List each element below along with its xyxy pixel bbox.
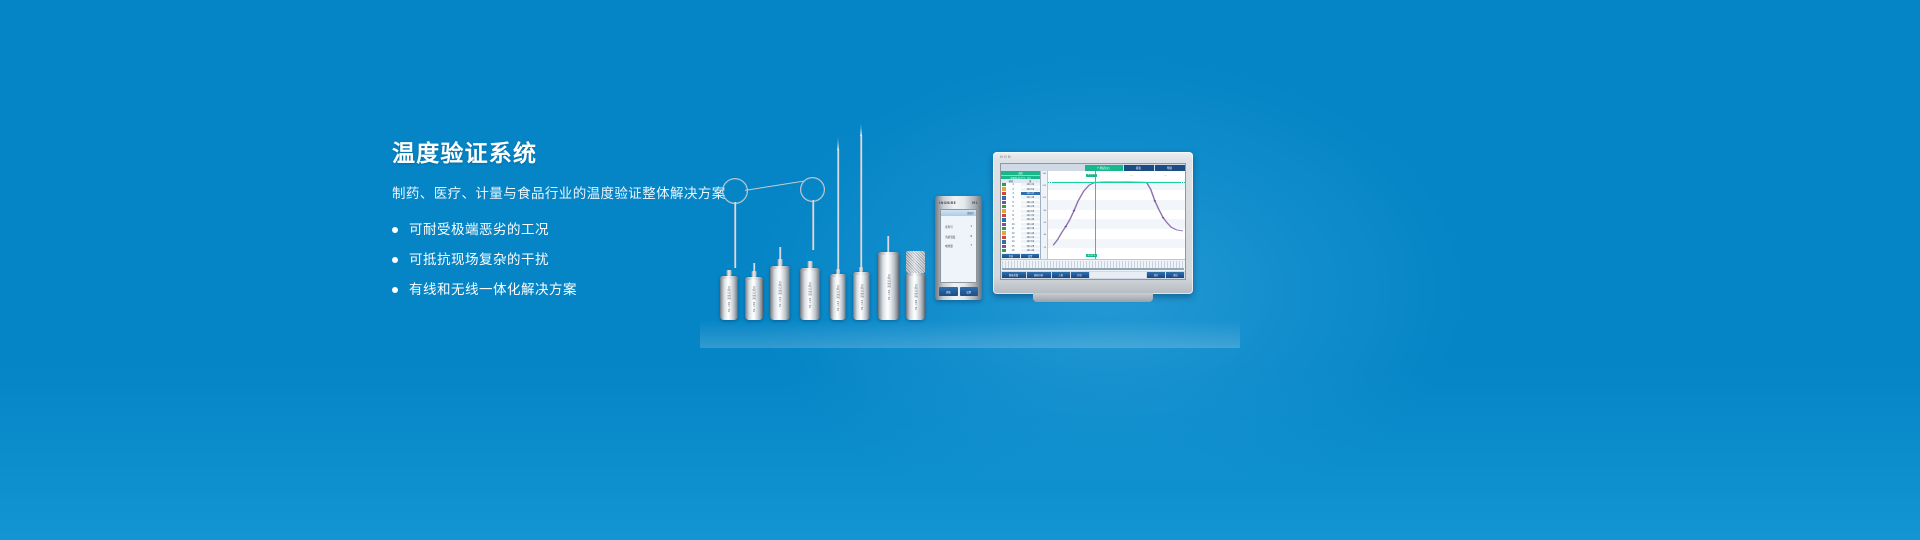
data-logger: TW-100 温度记录仪 — [745, 277, 763, 320]
toolbar-help-button[interactable]: 帮助 — [1155, 165, 1185, 171]
channel-table: 通道 测量值 统计(℃、秒) 通道 值 1121.34 2121.52 3121… — [1001, 171, 1041, 259]
cell-value: 121.28 — [1021, 245, 1040, 248]
y-tick: 100 — [1042, 197, 1046, 199]
cell-value: 121.46 — [1021, 249, 1040, 252]
probe-coil-icon — [800, 177, 825, 202]
toolbar-spacer — [1002, 165, 1084, 171]
collect-data-button[interactable]: 数据采集 — [1002, 272, 1026, 279]
toolbar-test-button[interactable]: F-测试(仪) — [1085, 165, 1123, 171]
app-toolbar-bottom: 数据采集 曲线分析 上报 打印 统计 退出 — [1001, 271, 1185, 279]
readout-value: 8 — [970, 235, 972, 239]
cell-channel: 7 — [1006, 210, 1021, 213]
logger-label: TW-180 温度记录仪 — [914, 284, 918, 310]
cell-value: 121.29 — [1021, 205, 1040, 208]
cell-value: 121.47 — [1021, 192, 1040, 195]
probe-stem — [779, 247, 781, 259]
cell-channel: 4 — [1006, 196, 1021, 199]
logger-neck — [778, 259, 783, 266]
background-floor-gradient — [0, 370, 1920, 540]
y-tick: 20 — [1044, 247, 1047, 249]
chart-y-axis: 140 120 100 80 60 40 20 — [1041, 171, 1048, 259]
logger-neck — [836, 269, 840, 274]
handheld-model: M1 — [972, 201, 978, 205]
cell-value: 121.49 — [1021, 218, 1040, 221]
cell-channel: 14 — [1006, 240, 1021, 243]
exit-button[interactable]: 退出 — [1166, 272, 1184, 279]
handheld-brand: INGNIRE — [939, 201, 956, 205]
toolbar-spacer — [1090, 272, 1147, 279]
logger-label: TW-140 温度记录仪 — [860, 284, 864, 310]
cell-channel: 1 — [1006, 183, 1021, 186]
cell-channel: 8 — [1006, 214, 1021, 217]
logger-label: TW-120 温度记录仪 — [778, 281, 782, 307]
data-logger: TW-180 温度记录仪 — [906, 273, 925, 320]
logger-neck — [859, 267, 863, 272]
handheld-keypad: 读取 设置 — [939, 287, 978, 296]
cell-value: 121.40 — [1021, 223, 1040, 226]
logger-label: TW-160 温度记录仪 — [887, 274, 891, 300]
cursor-label-bottom: B-121.4 — [1086, 254, 1096, 257]
statistics-button[interactable]: 统计 — [1147, 272, 1165, 279]
data-logger: TW-140 温度记录仪 — [853, 272, 870, 320]
table-body: 1121.34 2121.52 3121.47 4121.38 5121.41 … — [1001, 183, 1040, 253]
cell-value: 121.52 — [1021, 188, 1040, 191]
cursor-label-right-b — [1164, 175, 1167, 176]
logger-neck — [808, 261, 813, 268]
y-tick: 80 — [1044, 210, 1047, 212]
select-all-button[interactable]: 全选 — [1002, 254, 1020, 259]
cell-value: 121.31 — [1021, 236, 1040, 239]
data-logger: TW-160 温度记录仪 — [878, 252, 899, 320]
handheld-brand-row: INGNIRE M1 — [939, 201, 978, 205]
logger-label: TW-140 温度记录仪 — [836, 285, 840, 311]
y-tick: 60 — [1044, 222, 1047, 224]
cell-channel: 5 — [1006, 201, 1021, 204]
cell-channel: 2 — [1006, 188, 1021, 191]
feature-label: 可抵抗现场复杂的干扰 — [409, 251, 549, 269]
hero-banner: 温度验证系统 制药、医疗、计量与食品行业的温度验证整体解决方案 可耐受极端恶劣的… — [0, 0, 1920, 540]
logger-label: TW-100 温度记录仪 — [752, 286, 756, 312]
handheld-screen: 读取中 序列号 1 当前温度 8 电池量 7 — [940, 209, 977, 283]
probe-stem — [812, 200, 814, 250]
cell-channel: 9 — [1006, 218, 1021, 221]
readout-label: 电池量 — [945, 244, 953, 248]
data-logger: TW-120 温度记录仪 — [770, 266, 790, 320]
cell-value: 121.41 — [1021, 201, 1040, 204]
bullet-dot-icon — [392, 287, 398, 293]
software-screen: F-测试(仪) 报表 帮助 通道 测量值 统计(℃、秒) 通道 值 112 — [1000, 163, 1186, 280]
upload-button[interactable]: 上报 — [1052, 272, 1070, 279]
data-logger: TW-140 温度记录仪 — [830, 274, 846, 320]
cell-value: 121.44 — [1021, 232, 1040, 235]
probe-stem — [887, 236, 889, 252]
data-logger: TW-100 温度记录仪 — [720, 276, 738, 320]
cell-value: 121.55 — [1021, 210, 1040, 213]
logger-neck — [727, 270, 732, 276]
app-body: 通道 测量值 统计(℃、秒) 通道 值 1121.34 2121.52 3121… — [1001, 171, 1185, 259]
y-tick: 140 — [1042, 173, 1046, 175]
chart-x-axis — [1001, 259, 1185, 271]
cell-channel: 3 — [1006, 192, 1021, 195]
logger-label: TW-100 温度记录仪 — [727, 286, 731, 312]
feature-label: 可耐受极端恶劣的工况 — [409, 221, 549, 239]
cell-channel: 6 — [1006, 205, 1021, 208]
bullet-dot-icon — [392, 227, 398, 233]
probe-wire — [745, 181, 804, 192]
probe-needle — [860, 135, 862, 267]
list-item: 序列号 1 — [945, 225, 972, 229]
cell-channel: 11 — [1006, 227, 1021, 230]
probe-needle — [837, 149, 839, 269]
y-tick: 40 — [1044, 234, 1047, 236]
cursor-label-top: A-121.3 — [1086, 174, 1096, 177]
monitor-stand — [1033, 293, 1153, 302]
curve-analysis-button[interactable]: 曲线分析 — [1027, 272, 1051, 279]
readout-value: 1 — [970, 225, 972, 229]
handheld-read-button[interactable]: 读取 — [939, 287, 958, 296]
readout-value: 7 — [970, 244, 972, 248]
temperature-curve — [1048, 171, 1185, 259]
cell-value: 121.38 — [1021, 196, 1040, 199]
handheld-readout-list: 序列号 1 当前温度 8 电池量 7 — [941, 216, 976, 248]
cell-channel: 16 — [1006, 249, 1021, 252]
toolbar-report-button[interactable]: 报表 — [1124, 165, 1154, 171]
chart-panel: 140 120 100 80 60 40 20 — [1041, 171, 1185, 259]
readout-label: 当前温度 — [945, 235, 955, 239]
chart-cursor-vertical[interactable] — [1095, 171, 1096, 259]
data-logger: TW-120 温度记录仪 — [800, 268, 820, 320]
cell-value: 121.50 — [1021, 240, 1040, 243]
logger-label: TW-120 温度记录仪 — [808, 282, 812, 308]
list-item: 当前温度 8 — [945, 235, 972, 239]
cursor-label-right-a — [1130, 175, 1133, 176]
chart-cursor-horizontal[interactable] — [1048, 182, 1185, 183]
cell-channel: 13 — [1006, 236, 1021, 239]
product-reflection — [700, 320, 1240, 348]
cursor-handle-left[interactable] — [1049, 181, 1052, 184]
chart-plot-area: A-121.3 B-121.4 — [1048, 171, 1185, 259]
cell-channel: 12 — [1006, 232, 1021, 235]
y-tick: 120 — [1042, 185, 1046, 187]
app-toolbar-top: F-测试(仪) 报表 帮助 — [1001, 164, 1185, 171]
cell-channel: 15 — [1006, 245, 1021, 248]
cell-channel: 10 — [1006, 223, 1021, 226]
sintered-filter — [906, 251, 925, 273]
handheld-reader[interactable]: INGNIRE M1 读取中 序列号 1 当前温度 8 电池量 7 — [935, 196, 982, 300]
monitor-display: NON F-测试(仪) 报表 帮助 通道 测量值 统计(℃、秒) 通道 值 — [993, 152, 1193, 294]
monitor-brand: NON — [1000, 155, 1012, 159]
chart-scrollbar[interactable] — [1002, 268, 1184, 270]
handheld-setup-button[interactable]: 设置 — [960, 287, 979, 296]
settings-button[interactable]: 设置 — [1021, 254, 1039, 259]
logger-neck — [752, 271, 757, 277]
readout-label: 序列号 — [945, 225, 953, 229]
print-button[interactable]: 打印 — [1071, 272, 1089, 279]
feature-label: 有线和无线一体化解决方案 — [409, 281, 577, 299]
bullet-dot-icon — [392, 257, 398, 263]
cell-value: 121.34 — [1021, 183, 1040, 186]
list-item: 电池量 7 — [945, 244, 972, 248]
probe-stem — [753, 263, 755, 271]
cell-value: 121.36 — [1021, 227, 1040, 230]
probe-stem — [734, 202, 736, 268]
cell-value: 121.33 — [1021, 214, 1040, 217]
cursor-handle-right[interactable] — [1181, 181, 1184, 184]
